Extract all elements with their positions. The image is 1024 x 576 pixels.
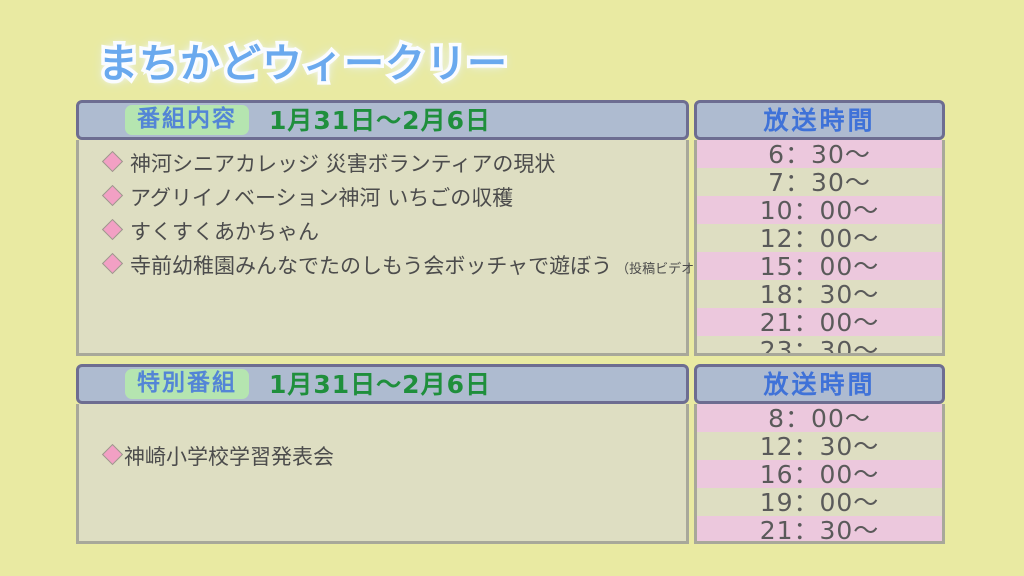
program-title: アグリイノベーション神河 いちごの収穫 — [130, 188, 513, 209]
section-header: 番組内容 1月31日〜2月6日 放送時間 — [76, 100, 945, 140]
broadcast-time-header: 放送時間 — [763, 372, 875, 397]
section-regular-programs: 番組内容 1月31日〜2月6日 放送時間 神河シニアカレッジ 災害ボランティアの… — [76, 100, 945, 356]
time-slot: 16：00〜 — [697, 460, 942, 488]
time-slot: 10：00〜 — [697, 196, 942, 224]
broadcast-time-header: 放送時間 — [763, 108, 875, 133]
diamond-bullet-icon — [102, 253, 123, 274]
program-list: 神河シニアカレッジ 災害ボランティアの現状 アグリイノベーション神河 いちごの収… — [76, 140, 689, 356]
time-slot: 19：00〜 — [697, 488, 942, 516]
list-item: 寺前幼稚園みんなでたのしもう会ボッチャで遊ぼう （投稿ビデオ） — [105, 256, 686, 290]
diamond-bullet-icon — [102, 444, 123, 465]
time-slot: 8：00〜 — [697, 404, 942, 432]
time-slot: 15：00〜 — [697, 252, 942, 280]
page-title: まちかどウィークリー — [98, 44, 508, 84]
list-item: 神河シニアカレッジ 災害ボランティアの現状 — [105, 154, 686, 188]
diamond-bullet-icon — [102, 219, 123, 240]
section-badge: 特別番組 — [125, 369, 249, 399]
program-list: 神崎小学校学習発表会 — [76, 404, 689, 544]
time-slot: 18：30〜 — [697, 280, 942, 308]
time-slot: 23：30〜 — [697, 336, 942, 356]
section-header-left: 番組内容 1月31日〜2月6日 — [76, 100, 689, 140]
list-item: アグリイノベーション神河 いちごの収穫 — [105, 188, 686, 222]
section-header-right: 放送時間 — [694, 364, 945, 404]
section-date-range: 1月31日〜2月6日 — [269, 108, 491, 133]
time-slot: 21：30〜 — [697, 516, 942, 544]
section-body: 神崎小学校学習発表会 8：00〜 12：30〜 16：00〜 19：00〜 21… — [76, 404, 945, 544]
list-item: すくすくあかちゃん — [105, 222, 686, 256]
diamond-bullet-icon — [102, 185, 123, 206]
time-slot: 12：00〜 — [697, 224, 942, 252]
section-special-programs: 特別番組 1月31日〜2月6日 放送時間 神崎小学校学習発表会 8：00〜 12… — [76, 364, 945, 544]
section-body: 神河シニアカレッジ 災害ボランティアの現状 アグリイノベーション神河 いちごの収… — [76, 140, 945, 356]
schedule-table: 番組内容 1月31日〜2月6日 放送時間 神河シニアカレッジ 災害ボランティアの… — [76, 100, 945, 530]
program-title: すくすくあかちゃん — [130, 222, 319, 243]
list-item: 神崎小学校学習発表会 — [105, 447, 686, 481]
diamond-bullet-icon — [102, 151, 123, 172]
broadcast-time-list: 8：00〜 12：30〜 16：00〜 19：00〜 21：30〜 — [694, 404, 945, 544]
time-slot: 21：00〜 — [697, 308, 942, 336]
program-title: 神河シニアカレッジ 災害ボランティアの現状 — [130, 154, 555, 175]
section-header-right: 放送時間 — [694, 100, 945, 140]
section-header: 特別番組 1月31日〜2月6日 放送時間 — [76, 364, 945, 404]
time-slot: 6：30〜 — [697, 140, 942, 168]
program-title: 神崎小学校学習発表会 — [124, 447, 334, 468]
section-header-left: 特別番組 1月31日〜2月6日 — [76, 364, 689, 404]
time-slot: 7：30〜 — [697, 168, 942, 196]
section-date-range: 1月31日〜2月6日 — [269, 372, 491, 397]
program-title: 寺前幼稚園みんなでたのしもう会ボッチャで遊ぼう — [130, 256, 612, 277]
section-badge: 番組内容 — [125, 105, 249, 135]
time-slot: 12：30〜 — [697, 432, 942, 460]
broadcast-time-list: 6：30〜 7：30〜 10：00〜 12：00〜 15：00〜 18：30〜 … — [694, 140, 945, 356]
